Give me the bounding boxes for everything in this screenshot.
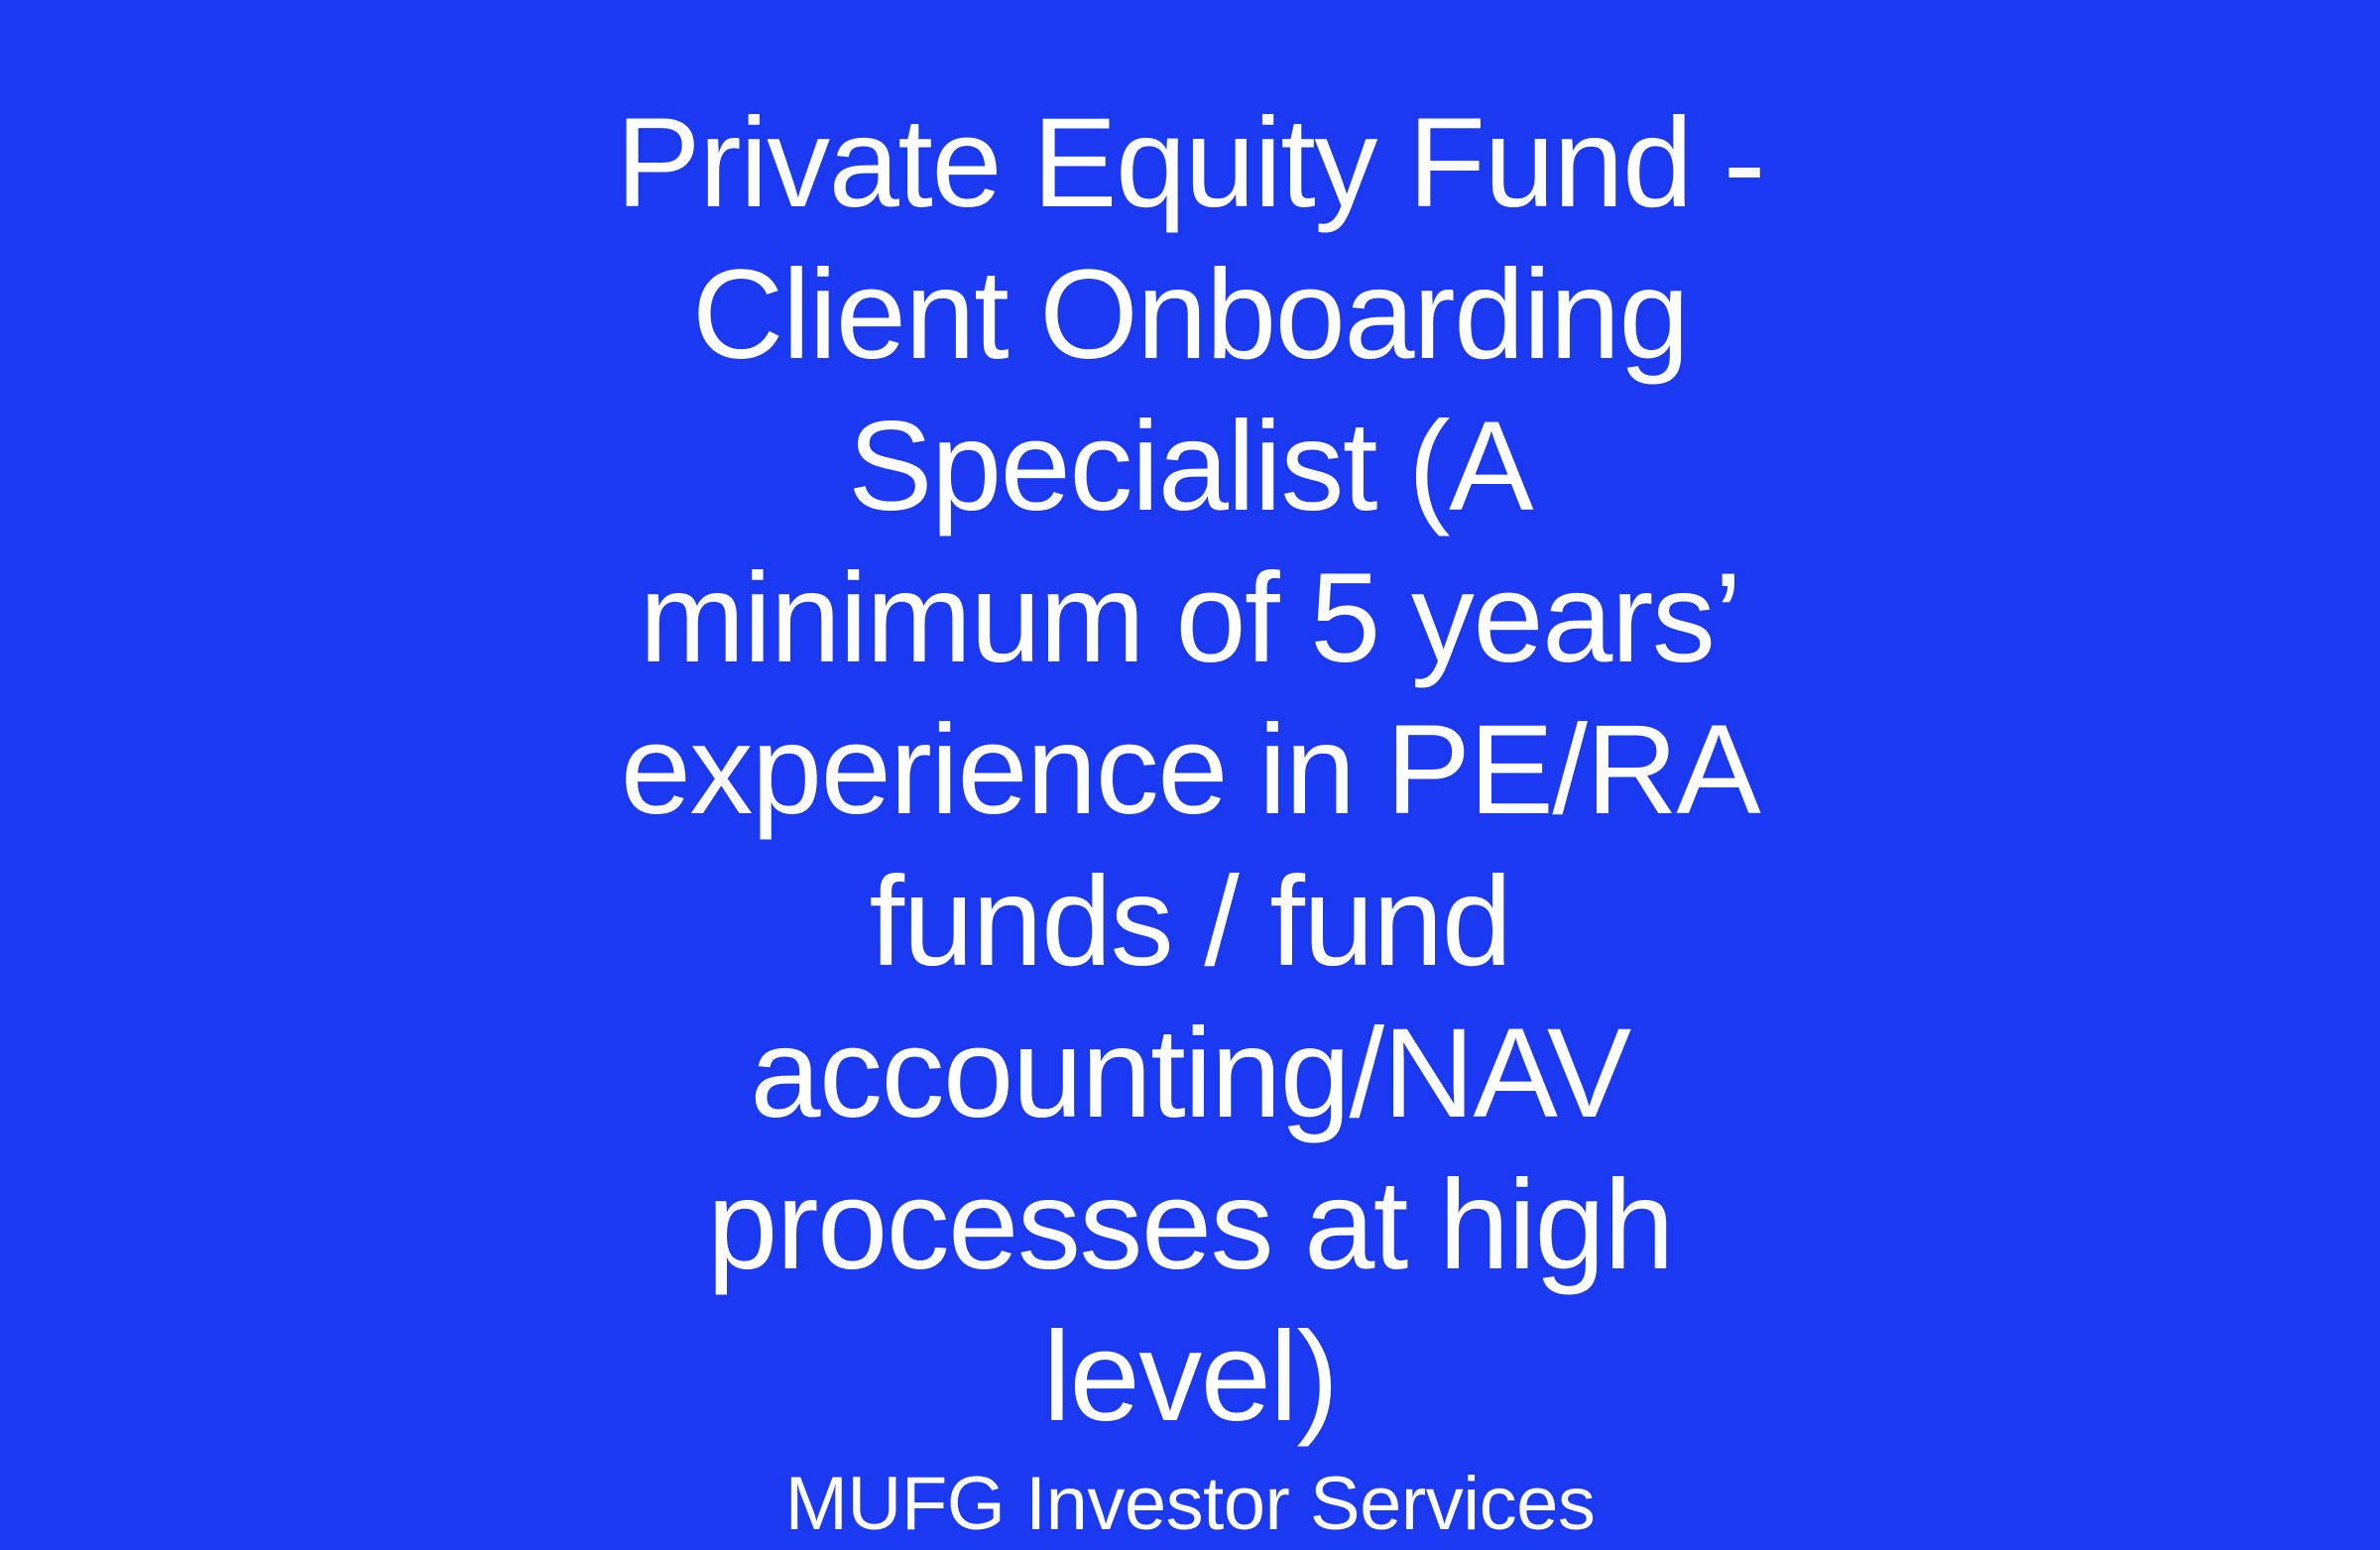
card-text-block: Private Equity Fund - Client Onboarding … bbox=[416, 87, 1963, 1550]
company-name: MUFG Investor Services bbox=[416, 1453, 1963, 1550]
job-title: Private Equity Fund - Client Onboarding … bbox=[615, 87, 1765, 1453]
job-posting-card: Private Equity Fund - Client Onboarding … bbox=[0, 0, 2380, 1163]
